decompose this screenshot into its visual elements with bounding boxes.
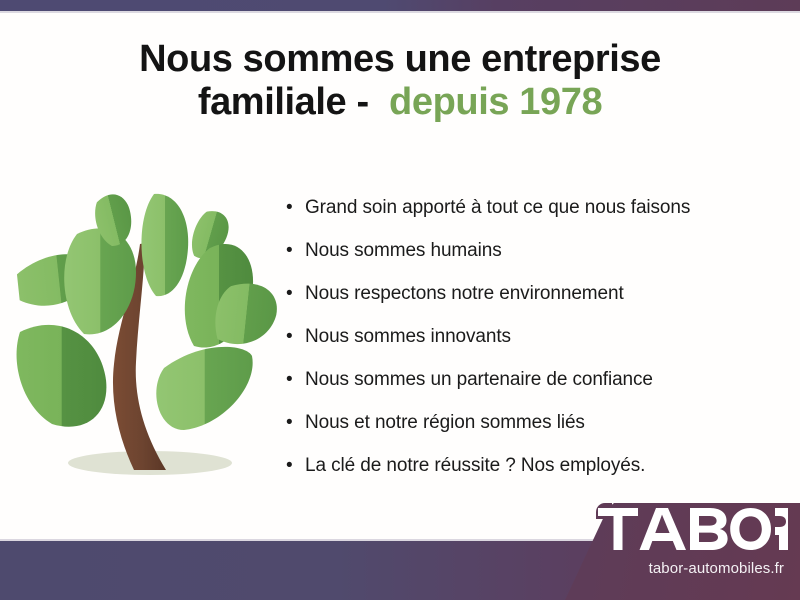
bullet-label: Nous sommes humains bbox=[305, 236, 786, 266]
bullet-label: Nous sommes innovants bbox=[305, 322, 786, 352]
bullet-dot-icon: • bbox=[286, 279, 305, 309]
slide-canvas: Nous sommes une entreprise familiale - d… bbox=[0, 0, 800, 600]
bullet-label: Nous et notre région sommes liés bbox=[305, 408, 786, 438]
bullet-dot-icon: • bbox=[286, 451, 305, 481]
list-item: • Nous sommes un partenaire de confiance bbox=[286, 365, 786, 408]
list-item: • Grand soin apporté à tout ce que nous … bbox=[286, 193, 786, 236]
bullet-dot-icon: • bbox=[286, 193, 305, 223]
slide-headline: Nous sommes une entreprise familiale - d… bbox=[0, 38, 800, 125]
headline-line-2: familiale - depuis 1978 bbox=[40, 81, 760, 124]
bullet-label: Nous sommes un partenaire de confiance bbox=[305, 365, 786, 395]
bullet-dot-icon: • bbox=[286, 408, 305, 438]
bullet-label: Grand soin apporté à tout ce que nous fa… bbox=[305, 193, 786, 223]
bullet-dot-icon: • bbox=[286, 322, 305, 352]
bullet-dot-icon: • bbox=[286, 236, 305, 266]
top-bar-hairline bbox=[0, 11, 800, 13]
top-accent-bar bbox=[0, 0, 800, 11]
tabor-logo-wordmark bbox=[598, 508, 788, 550]
bullet-dot-icon: • bbox=[286, 365, 305, 395]
tree-leaves bbox=[15, 191, 279, 430]
logo-url-label: tabor-automobiles.fr bbox=[556, 560, 794, 577]
list-item: • Nous respectons notre environnement bbox=[286, 279, 786, 322]
headline-accent: depuis 1978 bbox=[389, 81, 602, 123]
headline-plain: familiale - bbox=[198, 81, 369, 123]
tree-icon bbox=[14, 186, 280, 486]
headline-line-1: Nous sommes une entreprise bbox=[40, 38, 760, 81]
value-bullet-list: • Grand soin apporté à tout ce que nous … bbox=[286, 193, 786, 494]
list-item: • Nous sommes innovants bbox=[286, 322, 786, 365]
list-item: • La clé de notre réussite ? Nos employé… bbox=[286, 451, 786, 494]
bullet-label: Nous respectons notre environnement bbox=[305, 279, 786, 309]
bullet-label: La clé de notre réussite ? Nos employés. bbox=[305, 451, 786, 481]
list-item: • Nous sommes humains bbox=[286, 236, 786, 279]
list-item: • Nous et notre région sommes liés bbox=[286, 408, 786, 451]
